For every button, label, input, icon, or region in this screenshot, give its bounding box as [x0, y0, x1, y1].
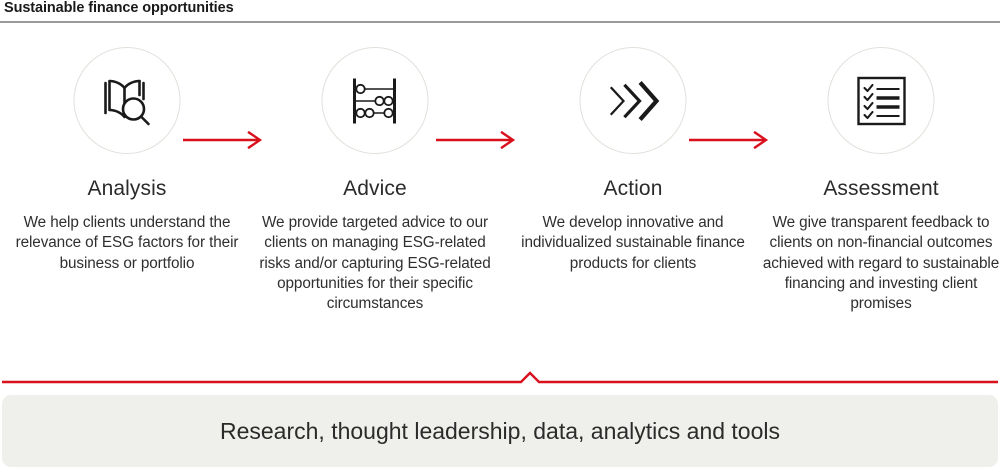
- step-advice[interactable]: Advice We provide targeted advice to our…: [250, 30, 500, 315]
- step-heading: Action: [508, 178, 758, 199]
- step-description: We develop innovative and individualized…: [511, 213, 755, 274]
- icon-circle: [74, 47, 181, 154]
- step-analysis[interactable]: Analysis We help clients understand the …: [2, 30, 252, 274]
- icon-circle: [322, 47, 429, 154]
- bracket-line-icon: [0, 370, 1000, 384]
- abacus-icon: [348, 76, 402, 126]
- icon-circle: [828, 47, 935, 154]
- connector-arrow-1: [183, 131, 267, 149]
- steps-row: Analysis We help clients understand the …: [0, 30, 1000, 370]
- step-assessment[interactable]: Assessment We give transparent feedback …: [756, 30, 1000, 315]
- connector-arrow-2: [436, 131, 520, 149]
- arrow-right-icon: [183, 131, 267, 149]
- red-bracket-divider: [0, 370, 1000, 384]
- arrow-right-icon: [689, 131, 773, 149]
- step-description: We provide targeted advice to our client…: [253, 213, 497, 315]
- step-heading: Advice: [250, 178, 500, 199]
- icon-circle: [580, 47, 687, 154]
- infographic-page: Sustainable finance opportunities: [0, 0, 1000, 472]
- connector-arrow-3: [689, 131, 773, 149]
- step-description: We give transparent feedback to clients …: [759, 213, 1000, 315]
- step-icon-wrap: [508, 30, 758, 172]
- arrow-right-icon: [436, 131, 520, 149]
- book-search-icon: [99, 75, 155, 127]
- step-heading: Analysis: [2, 178, 252, 199]
- header-divider: [0, 21, 1000, 23]
- step-icon-wrap: [2, 30, 252, 172]
- header: Sustainable finance opportunities: [0, 0, 1000, 23]
- step-icon-wrap: [756, 30, 1000, 172]
- step-action[interactable]: Action We develop innovative and individ…: [508, 30, 758, 274]
- step-heading: Assessment: [756, 178, 1000, 199]
- step-description: We help clients understand the relevance…: [5, 213, 249, 274]
- triple-chevron-right-icon: [604, 79, 662, 123]
- foundation-label: Research, thought leadership, data, anal…: [2, 395, 998, 467]
- checklist-icon: [855, 75, 907, 127]
- foundation-band[interactable]: Research, thought leadership, data, anal…: [2, 395, 998, 467]
- step-icon-wrap: [250, 30, 500, 172]
- page-title: Sustainable finance opportunities: [4, 0, 234, 16]
